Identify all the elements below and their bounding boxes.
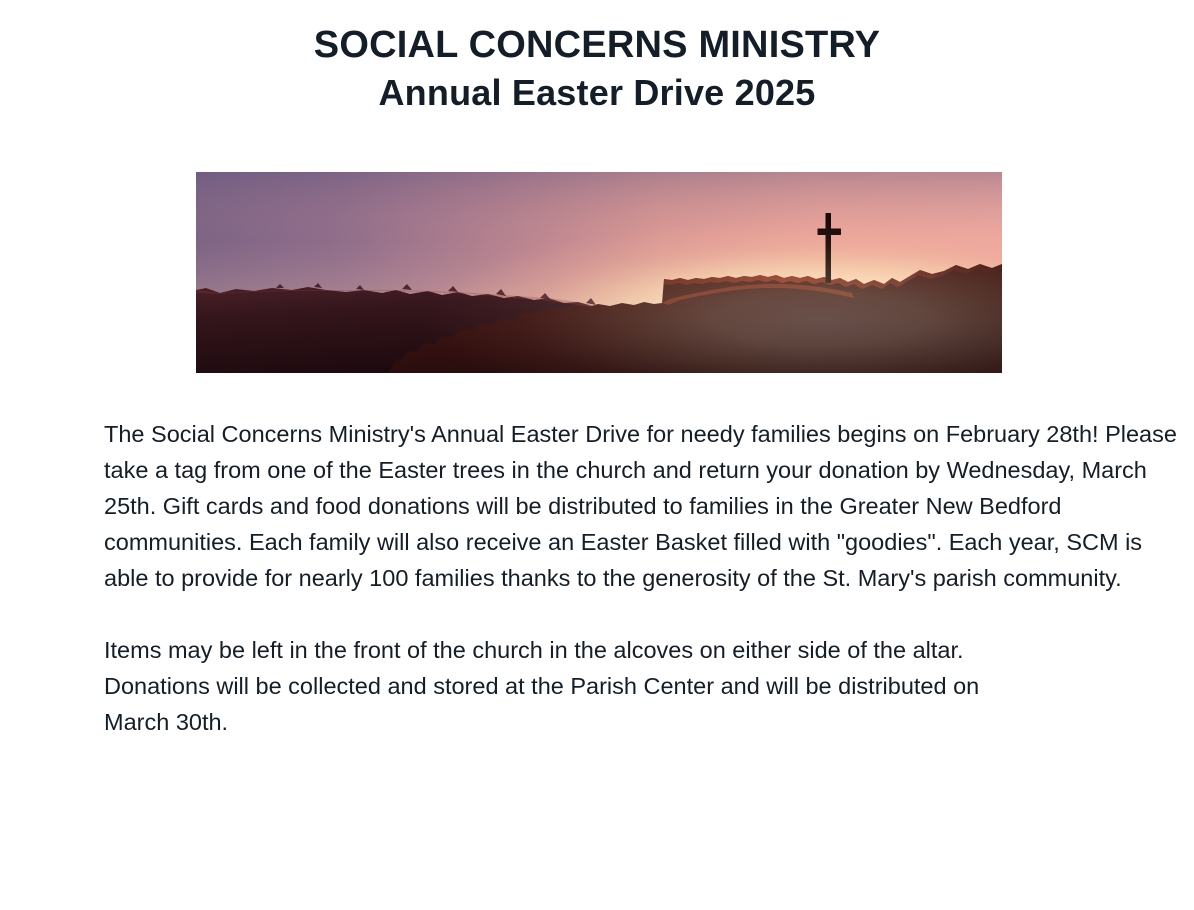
paragraph-dropoff-details: Items may be left in the front of the ch… <box>104 632 1184 740</box>
paragraph-drive-details: The Social Concerns Ministry's Annual Ea… <box>104 416 1184 596</box>
page-title: SOCIAL CONCERNS MINISTRY Annual Easter D… <box>0 22 1194 115</box>
flyer-page: SOCIAL CONCERNS MINISTRY Annual Easter D… <box>0 0 1194 910</box>
cross-silhouette-sunset-photo <box>196 172 1002 373</box>
page-title-line-1: SOCIAL CONCERNS MINISTRY <box>0 22 1194 68</box>
hero-image <box>196 172 1002 373</box>
page-title-line-2: Annual Easter Drive 2025 <box>0 71 1194 115</box>
body-content: The Social Concerns Ministry's Annual Ea… <box>104 416 1184 740</box>
